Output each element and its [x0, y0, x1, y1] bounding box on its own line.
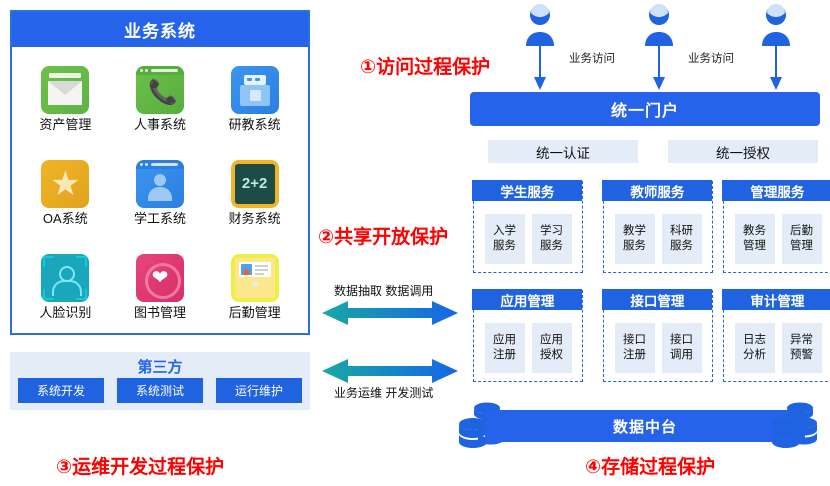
- app-tile-research-teaching[interactable]: 研教系统: [207, 51, 302, 145]
- app-label: 人脸识别: [39, 306, 91, 319]
- business-system-header: 业务系统: [12, 12, 308, 47]
- app-label: 图书管理: [134, 306, 186, 319]
- app-tile-oa[interactable]: ★ OA系统: [18, 145, 113, 239]
- service-group-title: 学生服务: [500, 181, 554, 201]
- blackboard-2plus2-icon: 2+2: [231, 160, 279, 208]
- arrow-label-ops-dev: 业务运维 开发测试: [334, 384, 433, 401]
- service-group-title: 接口管理: [630, 290, 684, 310]
- unified-authentication-box[interactable]: 统一认证: [488, 140, 638, 163]
- app-tile-hr[interactable]: 📞 人事系统: [113, 51, 208, 145]
- third-party-panel: 第三方 系统开发 系统测试 运行维护: [10, 352, 310, 410]
- service-item[interactable]: 入学服务: [485, 214, 525, 264]
- database-stack-icon: [768, 400, 822, 450]
- id-card-icon: [231, 254, 279, 302]
- user-person-icon: [641, 4, 677, 46]
- access-label: 业务访问: [688, 50, 734, 66]
- callout-access-protection: ①访问过程保护: [360, 52, 490, 79]
- service-item[interactable]: 后勤管理: [782, 214, 822, 264]
- bidirectional-arrow-data: [322, 300, 458, 326]
- app-label: 学工系统: [134, 212, 186, 225]
- business-system-title: 业务系统: [124, 17, 196, 42]
- service-group-student: 学生服务 入学服务 学习服务: [473, 181, 583, 273]
- callout-sharing-protection: ②共享开放保护: [318, 222, 448, 249]
- app-label: 后勤管理: [229, 306, 281, 319]
- service-group-teacher: 教师服务 教学服务 科研服务: [603, 181, 713, 273]
- app-label: 财务系统: [229, 212, 281, 225]
- service-item[interactable]: 教学服务: [615, 214, 655, 264]
- service-group-title: 应用管理: [500, 290, 554, 310]
- data-hub-title: 数据中台: [613, 416, 677, 437]
- access-arrow-down: [757, 46, 795, 90]
- access-arrow-down: [521, 46, 559, 90]
- data-hub-bar[interactable]: 数据中台: [485, 410, 805, 442]
- bidirectional-arrow-ops: [322, 358, 458, 384]
- service-group-audit: 审计管理 日志分析 异常预警: [723, 290, 830, 382]
- service-group-title: 教师服务: [630, 181, 684, 201]
- app-label: 研教系统: [229, 118, 281, 131]
- user-window-icon: [136, 160, 184, 208]
- business-system-panel: 业务系统 资产管理 📞 人事系统 研教系统 ★ OA系统: [10, 10, 310, 335]
- third-party-title: 第三方: [10, 356, 310, 377]
- app-label: OA系统: [43, 212, 88, 225]
- user-person-icon: [522, 4, 558, 46]
- app-tile-student-affairs[interactable]: 学工系统: [113, 145, 208, 239]
- service-group-interface: 接口管理 接口注册 接口调用: [603, 290, 713, 382]
- app-tile-finance[interactable]: 2+2 财务系统: [207, 145, 302, 239]
- access-label: 业务访问: [569, 50, 615, 66]
- app-tile-face-recognition[interactable]: 人脸识别: [18, 239, 113, 333]
- heart-icon: ❤: [136, 254, 184, 302]
- app-label: 资产管理: [39, 118, 91, 131]
- service-group-title: 管理服务: [750, 181, 804, 201]
- third-party-button-row: 系统开发 系统测试 运行维护: [18, 378, 302, 403]
- third-party-button-dev[interactable]: 系统开发: [18, 378, 104, 403]
- service-item[interactable]: 教务管理: [735, 214, 775, 264]
- callout-storage-protection: ④存储过程保护: [585, 452, 715, 479]
- user-person-icon: [758, 4, 794, 46]
- callout-devops-protection: ③运维开发过程保护: [56, 452, 224, 479]
- service-item[interactable]: 科研服务: [662, 214, 702, 264]
- mail-icon: [41, 66, 89, 114]
- app-label: 人事系统: [134, 118, 186, 131]
- service-item[interactable]: 应用注册: [485, 323, 525, 373]
- third-party-button-test[interactable]: 系统测试: [117, 378, 203, 403]
- service-item[interactable]: 日志分析: [735, 323, 775, 373]
- unified-portal-title: 统一门户: [611, 97, 679, 121]
- briefcase-icon: [231, 66, 279, 114]
- service-item[interactable]: 学习服务: [532, 214, 572, 264]
- third-party-button-ops[interactable]: 运行维护: [216, 378, 302, 403]
- app-tile-library[interactable]: ❤ 图书管理: [113, 239, 208, 333]
- phone-window-icon: 📞: [136, 66, 184, 114]
- service-item[interactable]: 接口调用: [662, 323, 702, 373]
- service-group-application: 应用管理 应用注册 应用授权: [473, 290, 583, 382]
- face-recognition-icon: [41, 254, 89, 302]
- arrow-label-data-extract: 数据抽取 数据调用: [334, 282, 433, 299]
- app-tile-logistics[interactable]: 后勤管理: [207, 239, 302, 333]
- service-item[interactable]: 应用授权: [532, 323, 572, 373]
- service-group-title: 审计管理: [750, 290, 804, 310]
- service-item[interactable]: 接口注册: [615, 323, 655, 373]
- unified-authorization-box[interactable]: 统一授权: [668, 140, 818, 163]
- star-icon: ★: [41, 160, 89, 208]
- service-group-management: 管理服务 教务管理 后勤管理: [723, 181, 830, 273]
- service-item[interactable]: 异常预警: [782, 323, 822, 373]
- business-system-app-grid: 资产管理 📞 人事系统 研教系统 ★ OA系统 学工系统: [12, 47, 308, 335]
- access-arrow-down: [640, 46, 678, 90]
- app-tile-asset[interactable]: 资产管理: [18, 51, 113, 145]
- unified-portal-bar[interactable]: 统一门户: [470, 92, 820, 126]
